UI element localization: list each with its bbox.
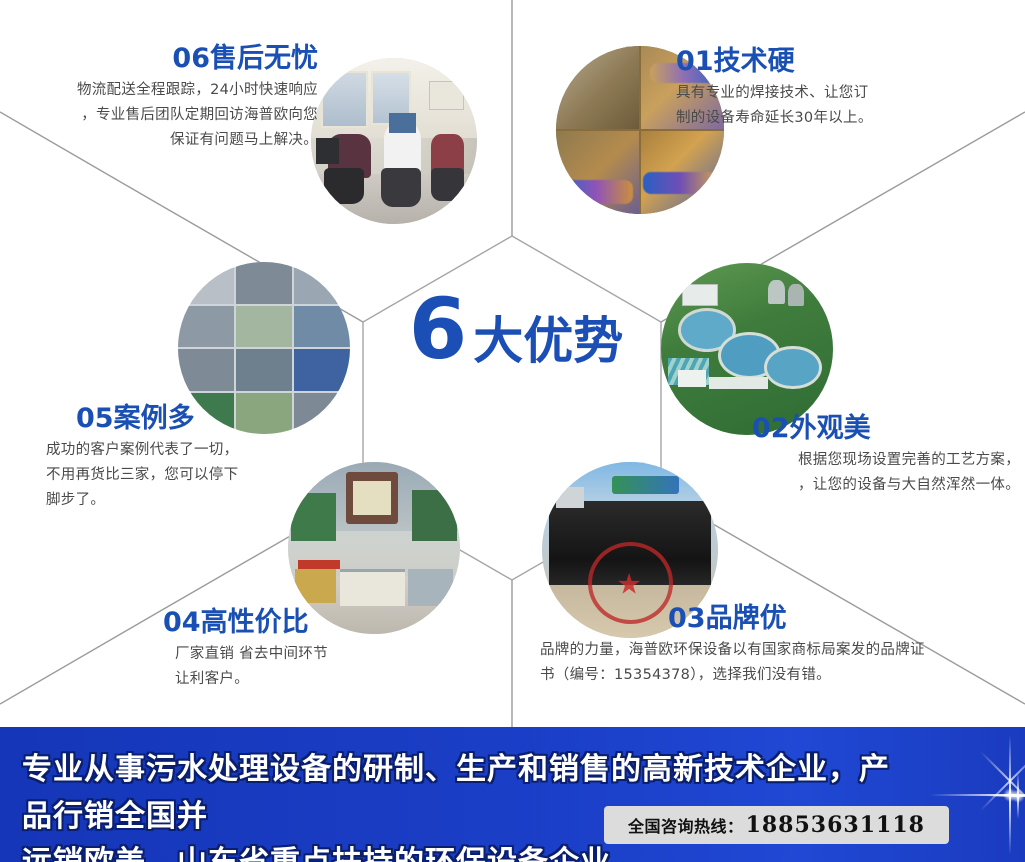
center-label: 6 大优势: [396, 292, 636, 382]
photo-circle-06: [311, 58, 477, 224]
feature-05-desc: 成功的客户案例代表了一切， 不用再货比三家，您可以停下 脚步了。: [46, 438, 336, 513]
hotline-label: 全国咨询热线：: [628, 813, 744, 837]
feature-06: 06售后无忧 物流配送全程跟踪，24小时快速响应 ，专业售后团队定期回访海普欧向…: [18, 44, 318, 153]
center-number: 6: [409, 292, 465, 368]
feature-06-desc-line-3: 保证有问题马上解决。: [170, 132, 318, 148]
feature-01: 01技术硬 具有专业的焊接技术、让您订 制的设备寿命延长30年以上。: [676, 47, 1006, 131]
hotline-number: 18853631118: [746, 812, 925, 838]
feature-05: 05案例多 成功的客户案例代表了一切， 不用再货比三家，您可以停下 脚步了。: [46, 404, 336, 513]
feature-01-desc: 具有专业的焊接技术、让您订 制的设备寿命延长30年以上。: [676, 81, 1006, 131]
feature-04-desc: 厂家直销 省去中间环节 让利客户。: [175, 642, 463, 692]
feature-03-heading: 03品牌优: [668, 604, 1010, 634]
feature-06-desc-line-1: 物流配送全程跟踪，24小时快速响应: [77, 82, 318, 98]
feature-04: 04高性价比 厂家直销 省去中间环节 让利客户。: [163, 608, 463, 692]
feature-05-desc-line-3: 脚步了。: [46, 492, 105, 508]
feature-06-desc-line-2: ，专业售后团队定期回访海普欧向您: [81, 107, 318, 123]
feature-01-desc-line-1: 具有专业的焊接技术、让您订: [676, 85, 868, 101]
feature-04-heading: 04高性价比: [163, 608, 463, 638]
feature-02: 02外观美 根据您现场设置完善的工艺方案， ，让您的设备与大自然浑然一体。: [700, 414, 1020, 498]
feature-06-heading: 06售后无忧: [18, 44, 318, 74]
feature-04-desc-line-1: 厂家直销 省去中间环节: [175, 646, 328, 662]
infographic-root: 6 大优势 06售后无忧 物流配送全程跟踪，24小时快速响应 ，专业售后团队定期…: [0, 0, 1025, 862]
feature-02-desc-line-1: 根据您现场设置完善的工艺方案，: [798, 452, 1020, 468]
feature-03-desc: 品牌的力量，海普欧环保设备以有国家商标局案发的品牌证 书（编号：15354378…: [540, 638, 1010, 688]
center-text: 大优势: [473, 316, 623, 366]
feature-03-desc-line-2: 书（编号：15354378），选择我们没有错。: [540, 667, 831, 683]
feature-04-desc-line-2: 让利客户。: [175, 671, 249, 687]
hotline-badge[interactable]: 全国咨询热线： 18853631118: [604, 806, 949, 844]
sparkle-icon-small: [988, 773, 1025, 819]
feature-05-heading: 05案例多: [76, 404, 336, 434]
banner-text: 专业从事污水处理设备的研制、生产和销售的高新技术企业，产品行销全国并 远销欧美，…: [22, 747, 902, 862]
photo-circle-02: [661, 263, 833, 435]
feature-05-desc-line-1: 成功的客户案例代表了一切，: [46, 442, 238, 458]
feature-03-desc-line-1: 品牌的力量，海普欧环保设备以有国家商标局案发的品牌证: [540, 642, 925, 658]
feature-01-desc-line-2: 制的设备寿命延长30年以上。: [676, 110, 873, 126]
feature-03: 03品牌优 品牌的力量，海普欧环保设备以有国家商标局案发的品牌证 书（编号：15…: [540, 604, 1010, 688]
banner-line-2: 远销欧美，山东省重点扶持的环保设备企业。: [22, 845, 642, 862]
feature-05-desc-line-2: 不用再货比三家，您可以停下: [46, 467, 238, 483]
feature-06-desc: 物流配送全程跟踪，24小时快速响应 ，专业售后团队定期回访海普欧向您 保证有问题…: [18, 78, 318, 153]
feature-01-heading: 01技术硬: [676, 47, 1006, 77]
feature-02-heading: 02外观美: [752, 414, 1020, 444]
feature-02-desc-line-2: ，让您的设备与大自然浑然一体。: [798, 477, 1020, 493]
feature-02-desc: 根据您现场设置完善的工艺方案， ，让您的设备与大自然浑然一体。: [700, 448, 1020, 498]
